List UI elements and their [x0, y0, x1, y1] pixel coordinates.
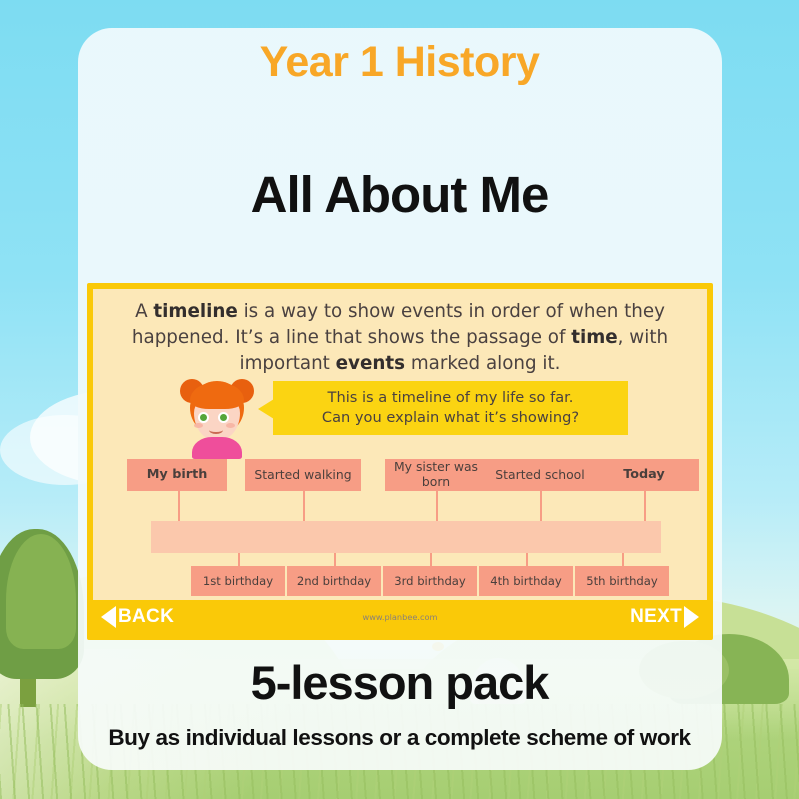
pack-subtitle: Buy as individual lessons or a complete … [0, 725, 799, 751]
speech-bubble: This is a timeline of my life so far. Ca… [273, 381, 628, 435]
timeline-connector [303, 491, 305, 521]
timeline-connector [540, 491, 542, 521]
timeline-event-label: Started walking [254, 468, 351, 483]
timeline-birthday-box: 5th birthday [575, 566, 669, 596]
timeline-connector [430, 553, 432, 566]
speech-bubble-line-1: This is a timeline of my life so far. [322, 388, 579, 408]
lesson-slide-preview[interactable]: A timeline is a way to show events in or… [87, 283, 713, 640]
subject-kicker: Year 1 History [0, 38, 799, 87]
arrow-right-icon [684, 606, 699, 628]
intro-bold-timeline: timeline [153, 301, 237, 322]
eye-right [218, 412, 229, 423]
eye-left [198, 412, 209, 423]
timeline-birthday-label: 5th birthday [586, 574, 658, 588]
cheek-right [226, 423, 235, 428]
watermark: www.planbee.com [93, 612, 707, 622]
timeline-birthday-label: 1st birthday [203, 574, 273, 588]
shirt [192, 437, 242, 459]
timeline-event-box: Today [589, 459, 699, 491]
timeline-birthday-label: 2nd birthday [297, 574, 371, 588]
timeline-connector [622, 553, 624, 566]
mouth [209, 426, 223, 434]
timeline-connector [238, 553, 240, 566]
timeline-event-box: Started walking [245, 459, 361, 491]
next-button[interactable]: NEXT [630, 606, 699, 628]
slide-navigation-bar: BACK www.planbee.com NEXT [93, 600, 707, 634]
slide-body-text: A timeline is a way to show events in or… [117, 299, 683, 377]
next-button-label: NEXT [630, 606, 682, 628]
timeline-birthday-label: 4th birthday [490, 574, 562, 588]
timeline-birthday-box: 4th birthday [479, 566, 573, 596]
timeline-birthday-label: 3rd birthday [394, 574, 466, 588]
intro-bold-events: events [336, 353, 405, 374]
slide-preview-stage: Year 1 History All About Me A timeline i… [0, 0, 799, 799]
timeline-event-label: Today [623, 467, 665, 482]
timeline-connector [644, 491, 646, 521]
timeline-birthday-box: 3rd birthday [383, 566, 477, 596]
timeline-event-label: My sister was born [385, 460, 487, 490]
hair-fringe [190, 383, 244, 409]
character-illustration [178, 373, 256, 457]
timeline-birthday-box: 2nd birthday [287, 566, 381, 596]
speech-bubble-line-2: Can you explain what it’s showing? [322, 408, 579, 428]
timeline-connector [334, 553, 336, 566]
timeline-connector [178, 491, 180, 521]
timeline-graphic: My birthStarted walkingMy sister was bor… [93, 459, 713, 599]
page-title: All About Me [0, 165, 799, 224]
timeline-bar [151, 521, 661, 553]
cheek-left [194, 423, 203, 428]
timeline-event-box: My sister was born [385, 459, 487, 491]
timeline-connector [526, 553, 528, 566]
intro-part4: marked along it. [405, 353, 560, 374]
timeline-event-box: Started school [483, 459, 597, 491]
timeline-connector [436, 491, 438, 521]
pack-title: 5-lesson pack [0, 655, 799, 710]
intro-bold-time: time [571, 327, 617, 348]
timeline-event-label: Started school [495, 468, 584, 483]
timeline-event-box: My birth [127, 459, 227, 491]
timeline-event-label: My birth [147, 467, 208, 482]
timeline-birthday-box: 1st birthday [191, 566, 285, 596]
intro-part1: A [135, 301, 153, 322]
